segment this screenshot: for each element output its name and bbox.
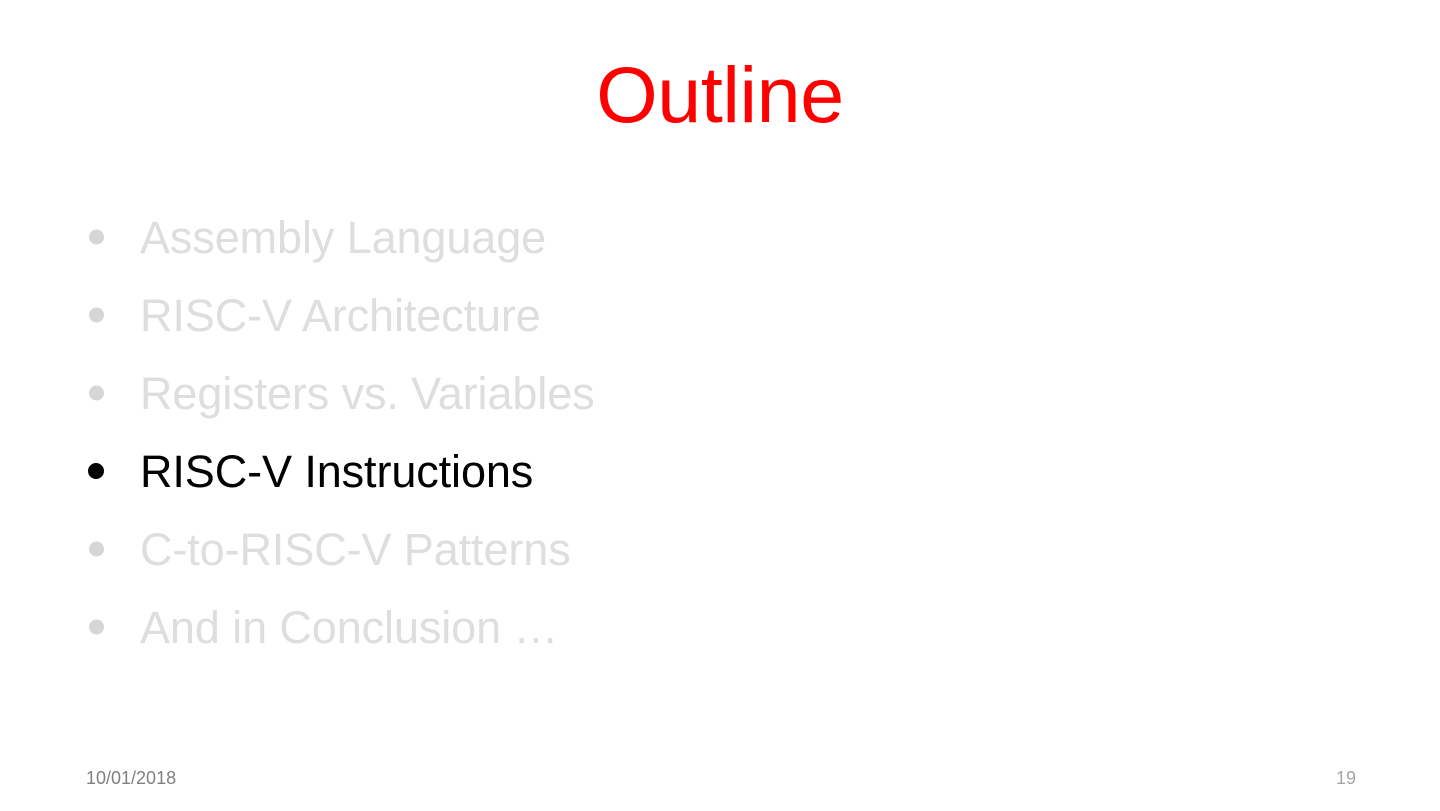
list-item-label: Registers vs. Variables [140,371,595,416]
list-item[interactable]: Assembly Language [78,198,1358,276]
list-item-active[interactable]: RISC-V Instructions [78,432,1358,510]
footer-date: 10/01/2018 [86,769,176,787]
list-item[interactable]: RISC-V Architecture [78,276,1358,354]
list-item[interactable]: And in Conclusion … [78,588,1358,666]
outline-bullet-list: Assembly Language RISC-V Architecture Re… [78,198,1358,666]
list-item-label: RISC-V Architecture [140,293,541,338]
slide-canvas: Outline Assembly Language RISC-V Archite… [0,0,1440,811]
bullet-dot-icon [89,620,104,635]
list-item-label: And in Conclusion … [140,605,558,650]
bullet-dot-icon [89,542,104,557]
bullet-dot-icon [89,230,104,245]
footer-page-number: 19 [1336,769,1356,787]
bullet-dot-icon [88,463,104,479]
list-item[interactable]: C-to-RISC-V Patterns [78,510,1358,588]
bullet-dot-icon [89,308,104,323]
list-item-label: Assembly Language [140,215,546,260]
page-title: Outline [0,54,1440,137]
list-item-label: C-to-RISC-V Patterns [140,527,571,572]
bullet-dot-icon [89,386,104,401]
list-item[interactable]: Registers vs. Variables [78,354,1358,432]
list-item-label: RISC-V Instructions [140,449,533,494]
